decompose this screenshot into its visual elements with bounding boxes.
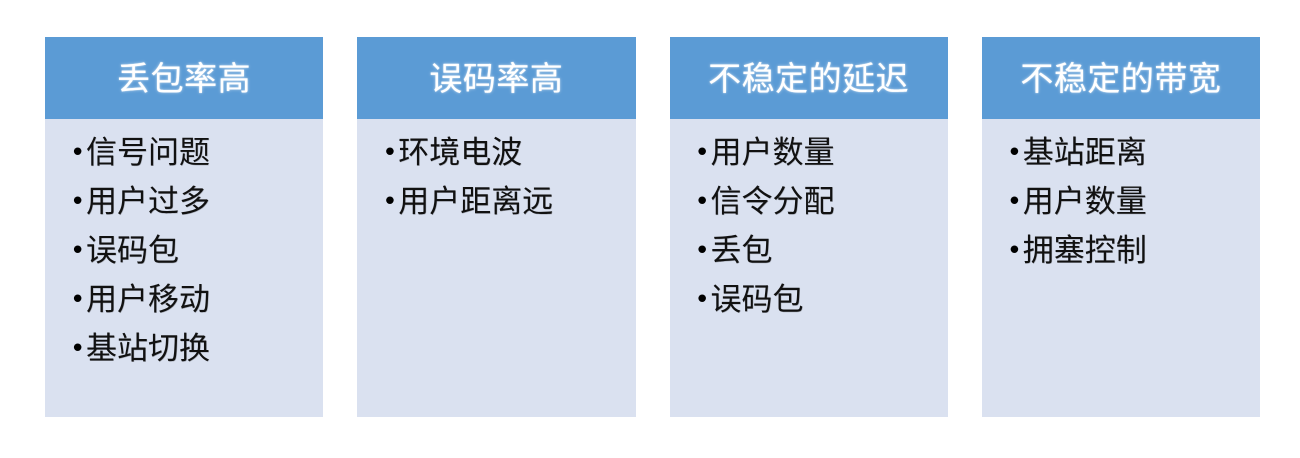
column-header-label: 不稳定的延迟 [708, 62, 909, 95]
list-item-label: 拥塞控制 [1023, 231, 1250, 271]
bullet-icon: • [70, 329, 86, 369]
column-header-bit-error-rate[interactable]: 误码率高 [357, 37, 635, 119]
list-item[interactable]: • 基站切换 [70, 329, 313, 378]
bullet-icon: • [695, 133, 711, 173]
diagram-root: 丢包率高 • 信号问题 • 用户过多 • 误码包 [0, 0, 1300, 458]
list-item-label: 误码包 [711, 280, 938, 320]
bullet-icon: • [695, 231, 711, 271]
list-item-label: 基站距离 [1023, 133, 1250, 173]
bullet-icon: • [1007, 182, 1023, 222]
column-body-unstable-bandwidth: • 基站距离 • 用户数量 • 拥塞控制 [982, 119, 1260, 417]
list-item-label: 信令分配 [711, 182, 938, 222]
bullet-list: • 环境电波 • 用户距离远 [382, 133, 625, 231]
list-item[interactable]: • 用户过多 [70, 182, 313, 231]
list-item[interactable]: • 用户移动 [70, 280, 313, 329]
column-body-bit-error-rate: • 环境电波 • 用户距离远 [357, 119, 635, 417]
list-item[interactable]: • 环境电波 [382, 133, 625, 182]
bullet-icon: • [1007, 133, 1023, 173]
list-item[interactable]: • 丢包 [695, 231, 938, 280]
list-item-label: 信号问题 [86, 133, 313, 173]
column-unstable-latency[interactable]: 不稳定的延迟 • 用户数量 • 信令分配 • 丢包 [670, 37, 948, 417]
list-item-label: 误码包 [86, 231, 313, 271]
bullet-icon: • [695, 280, 711, 320]
bullet-icon: • [70, 133, 86, 173]
list-item-label: 基站切换 [86, 329, 313, 369]
column-header-packet-loss[interactable]: 丢包率高 [45, 37, 323, 119]
bullet-icon: • [1007, 231, 1023, 271]
column-header-unstable-bandwidth[interactable]: 不稳定的带宽 [982, 37, 1260, 119]
list-item-label: 丢包 [711, 231, 938, 271]
bullet-icon: • [382, 182, 398, 222]
column-header-label: 误码率高 [429, 62, 563, 95]
column-packet-loss[interactable]: 丢包率高 • 信号问题 • 用户过多 • 误码包 [45, 37, 323, 417]
list-item[interactable]: • 误码包 [695, 280, 938, 329]
column-body-unstable-latency: • 用户数量 • 信令分配 • 丢包 • 误码包 [670, 119, 948, 417]
list-item[interactable]: • 用户距离远 [382, 182, 625, 231]
bullet-list: • 用户数量 • 信令分配 • 丢包 • 误码包 [695, 133, 938, 329]
list-item[interactable]: • 信令分配 [695, 182, 938, 231]
column-header-label: 不稳定的带宽 [1020, 62, 1221, 95]
column-unstable-bandwidth[interactable]: 不稳定的带宽 • 基站距离 • 用户数量 • 拥塞控制 [982, 37, 1260, 417]
list-item[interactable]: • 信号问题 [70, 133, 313, 182]
list-item-label: 用户距离远 [398, 182, 625, 222]
column-bit-error-rate[interactable]: 误码率高 • 环境电波 • 用户距离远 [357, 37, 635, 417]
column-header-label: 丢包率高 [117, 62, 251, 95]
list-item-label: 环境电波 [398, 133, 625, 173]
list-item[interactable]: • 拥塞控制 [1007, 231, 1250, 280]
bullet-icon: • [382, 133, 398, 173]
list-item[interactable]: • 用户数量 [1007, 182, 1250, 231]
column-header-unstable-latency[interactable]: 不稳定的延迟 [670, 37, 948, 119]
list-item[interactable]: • 误码包 [70, 231, 313, 280]
list-item-label: 用户过多 [86, 182, 313, 222]
column-group: 丢包率高 • 信号问题 • 用户过多 • 误码包 [45, 37, 1260, 417]
list-item-label: 用户数量 [711, 133, 938, 173]
bullet-icon: • [695, 182, 711, 222]
list-item-label: 用户数量 [1023, 182, 1250, 222]
bullet-icon: • [70, 231, 86, 271]
list-item-label: 用户移动 [86, 280, 313, 320]
bullet-list: • 基站距离 • 用户数量 • 拥塞控制 [1007, 133, 1250, 280]
bullet-icon: • [70, 280, 86, 320]
list-item[interactable]: • 用户数量 [695, 133, 938, 182]
bullet-icon: • [70, 182, 86, 222]
bullet-list: • 信号问题 • 用户过多 • 误码包 • 用户移动 [70, 133, 313, 378]
list-item[interactable]: • 基站距离 [1007, 133, 1250, 182]
column-body-packet-loss: • 信号问题 • 用户过多 • 误码包 • 用户移动 [45, 119, 323, 417]
